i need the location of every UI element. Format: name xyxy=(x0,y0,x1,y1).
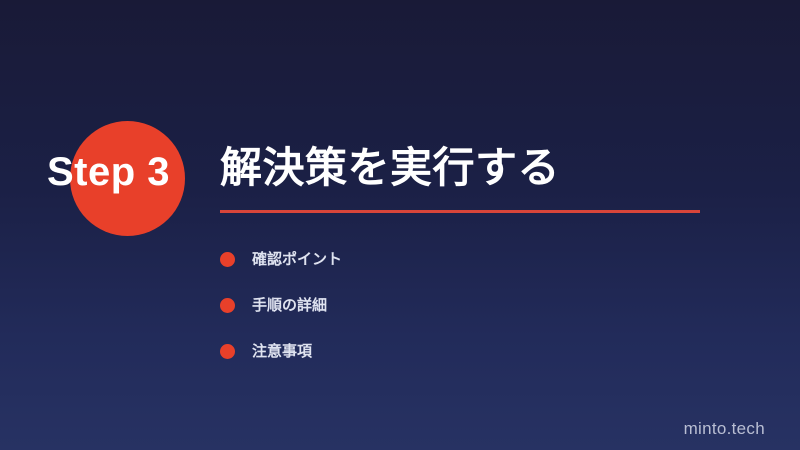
bullet-dot-icon xyxy=(220,344,235,359)
bullet-dot-icon xyxy=(220,252,235,267)
presentation-slide: Step 3 解決策を実行する 確認ポイント 手順の詳細 注意事項 minto.… xyxy=(0,0,800,450)
title-divider xyxy=(220,210,700,213)
list-item: 確認ポイント xyxy=(220,236,700,282)
slide-title: 解決策を実行する xyxy=(220,146,560,190)
list-item: 手順の詳細 xyxy=(220,282,700,328)
list-item-label: 確認ポイント xyxy=(252,252,342,267)
list-item-label: 注意事項 xyxy=(252,344,312,359)
watermark: minto.tech xyxy=(684,420,765,437)
bullet-dot-icon xyxy=(220,298,235,313)
list-item-label: 手順の詳細 xyxy=(252,298,327,313)
step-badge-label: Step 3 xyxy=(47,152,170,192)
list-item: 注意事項 xyxy=(220,328,700,374)
bullet-list: 確認ポイント 手順の詳細 注意事項 xyxy=(220,236,700,374)
